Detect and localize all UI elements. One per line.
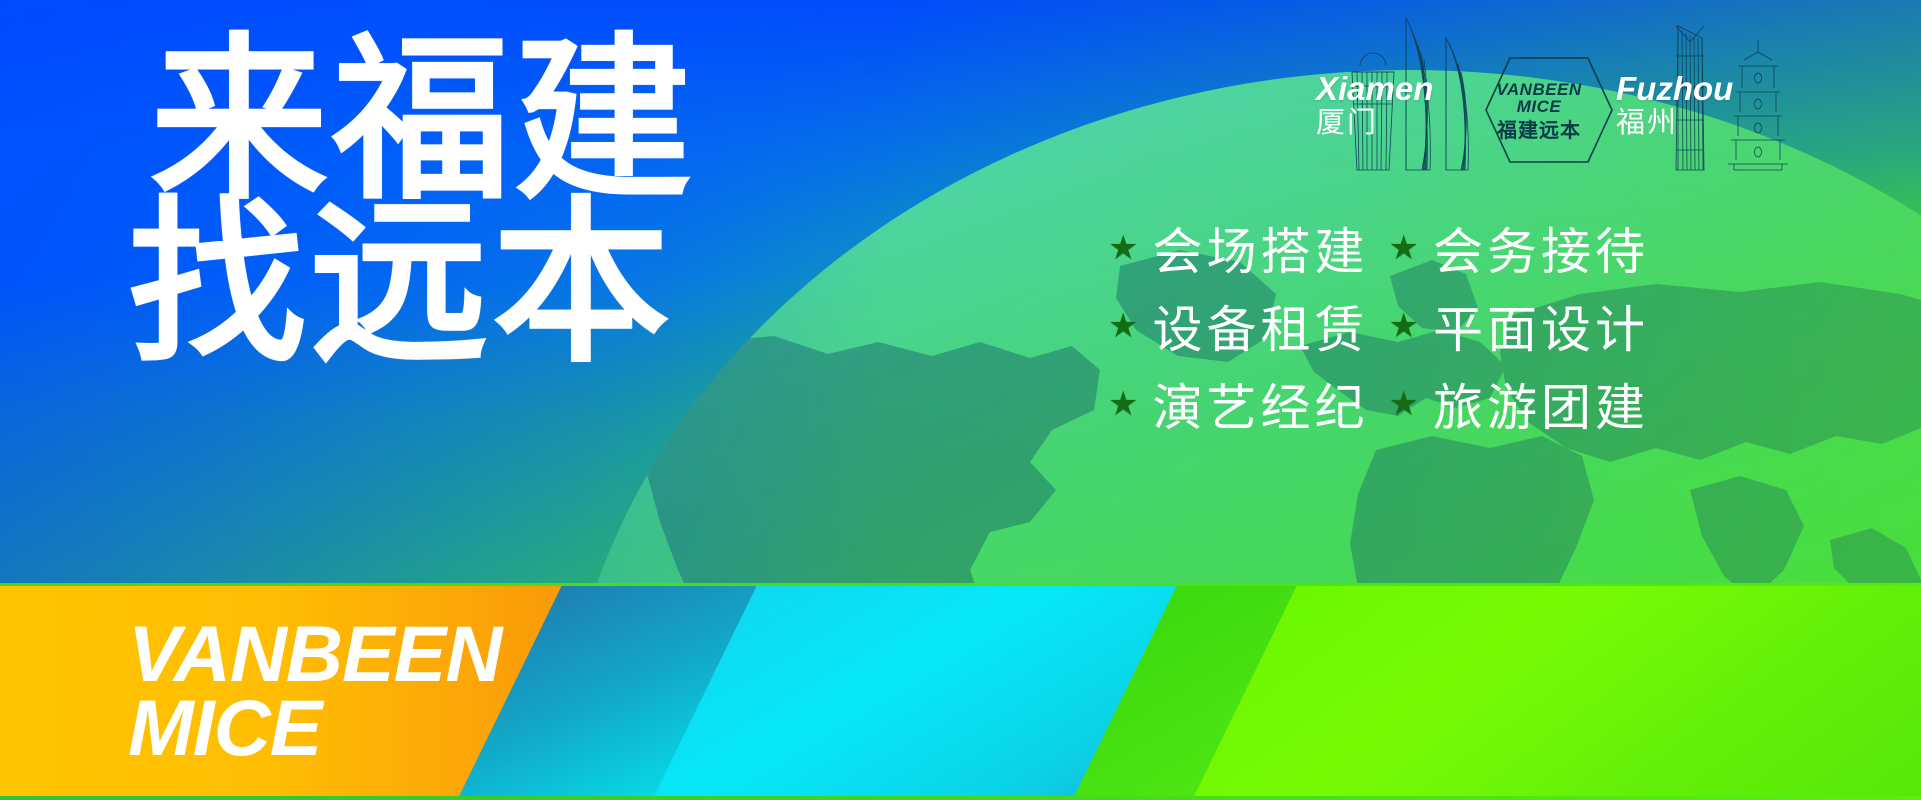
banner-footer-bar: VANBEEN MICE xyxy=(0,583,1921,800)
banner-headline: 来福建 找远本 xyxy=(128,36,696,370)
service-label-1: 会务接待 xyxy=(1433,212,1649,284)
city-label-fuzhou: Fuzhou 福州 xyxy=(1616,72,1733,137)
headline-line-2: 找远本 xyxy=(128,199,696,370)
brand-wordmark: VANBEEN MICE xyxy=(128,619,501,762)
service-label-3: 平面设计 xyxy=(1433,290,1649,362)
banner-main-panel: 来福建 找远本 ★ 会场搭建 ★ 会务接待 ★ 设备租赁 ★ 平面设计 ★ xyxy=(0,0,1921,583)
wordmark-line-1: VANBEEN xyxy=(128,619,501,689)
service-item-1: ★ 会务接待 xyxy=(1388,212,1648,284)
headline-line-1: 来福建 xyxy=(150,36,696,207)
city-label-xiamen: Xiamen 厦门 xyxy=(1316,72,1433,137)
service-label-5: 旅游团建 xyxy=(1433,368,1649,440)
wordmark-line-2: MICE xyxy=(128,693,501,763)
city-name-cn-xiamen: 厦门 xyxy=(1316,108,1433,137)
star-bullet-icon: ★ xyxy=(1388,387,1418,421)
service-item-3: ★ 平面设计 xyxy=(1388,290,1648,362)
star-bullet-icon: ★ xyxy=(1108,387,1138,421)
footer-band-green-bright xyxy=(1188,583,1921,800)
city-name-en-fuzhou: Fuzhou xyxy=(1616,72,1733,105)
fuzhou-pagoda-icon xyxy=(1728,40,1788,170)
vanbeen-mice-promo-banner: 来福建 找远本 ★ 会场搭建 ★ 会务接待 ★ 设备租赁 ★ 平面设计 ★ xyxy=(0,0,1921,800)
service-label-2: 设备租赁 xyxy=(1152,290,1368,362)
service-list: ★ 会场搭建 ★ 会务接待 ★ 设备租赁 ★ 平面设计 ★ 演艺经纪 ★ xyxy=(1108,212,1649,440)
footer-bottom-divider xyxy=(0,796,1921,800)
service-item-0: ★ 会场搭建 xyxy=(1108,212,1368,284)
hexagon-brand-badge: VANBEEN MICE 福建远本 xyxy=(1453,56,1625,164)
footer-top-divider xyxy=(0,583,1921,586)
hexagon-badge-cn: 福建远本 xyxy=(1497,120,1581,140)
service-label-4: 演艺经纪 xyxy=(1152,368,1368,440)
service-item-5: ★ 旅游团建 xyxy=(1388,368,1648,440)
service-item-2: ★ 设备租赁 xyxy=(1108,290,1368,362)
service-item-4: ★ 演艺经纪 xyxy=(1108,368,1368,440)
hexagon-badge-en-line2: MICE xyxy=(1517,98,1562,115)
hexagon-badge-en-line1: VANBEEN xyxy=(1496,81,1581,98)
star-bullet-icon: ★ xyxy=(1388,309,1418,343)
star-bullet-icon: ★ xyxy=(1388,231,1418,265)
city-name-en-xiamen: Xiamen xyxy=(1316,72,1433,105)
star-bullet-icon: ★ xyxy=(1108,231,1138,265)
city-landmark-strip: Xiamen 厦门 Fuzhou 福州 VANBEEN MICE 福建远本 xyxy=(1320,4,1840,174)
service-label-0: 会场搭建 xyxy=(1152,212,1368,284)
hexagon-badge-text: VANBEEN MICE 福建远本 xyxy=(1453,56,1625,164)
city-name-cn-fuzhou: 福州 xyxy=(1616,108,1733,137)
star-bullet-icon: ★ xyxy=(1108,309,1138,343)
